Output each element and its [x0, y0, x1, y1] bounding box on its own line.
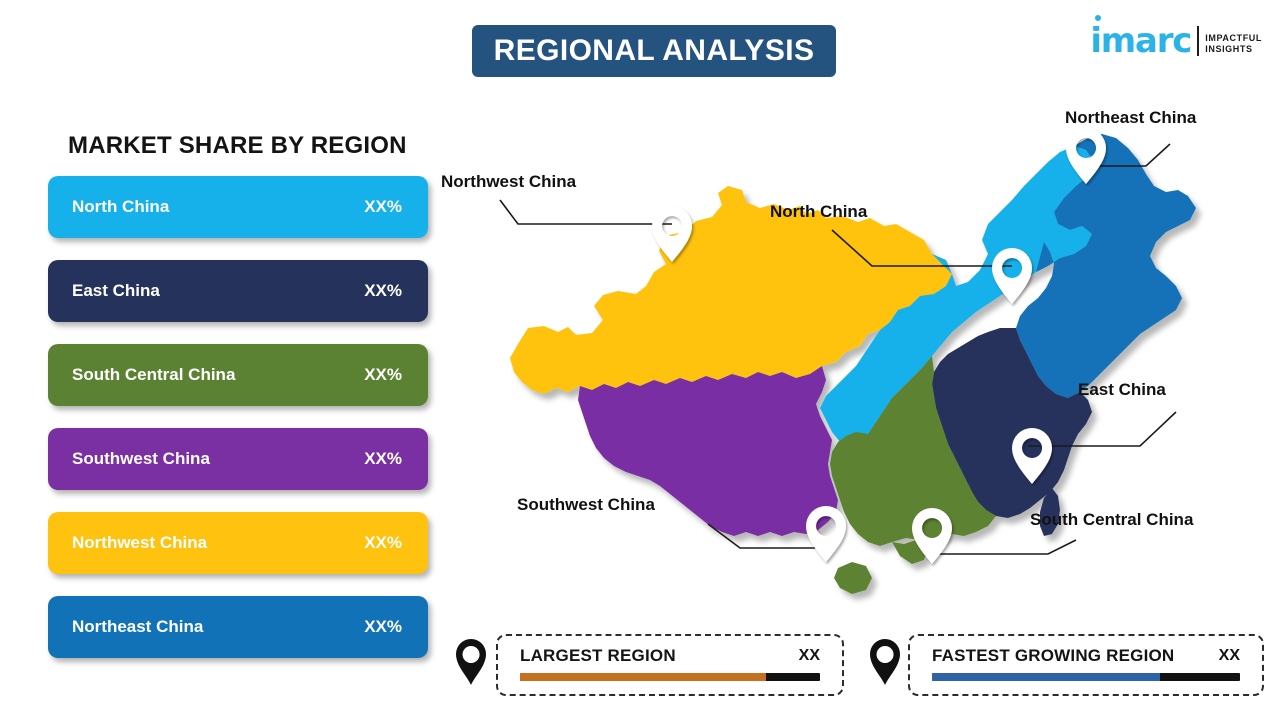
largest-region-title: LARGEST REGION [520, 646, 676, 666]
logo-tagline: IMPACTFUL INSIGHTS [1205, 33, 1262, 59]
legend-item-northeast-china[interactable]: Northeast China XX% [48, 596, 428, 658]
map-label-north-china: North China [770, 202, 867, 222]
map-island-hainan[interactable] [834, 562, 872, 594]
fastest-growing-region-value: XX [1219, 647, 1240, 665]
logo-wordmark: imarc [1090, 24, 1191, 58]
logo-tagline-line2: INSIGHTS [1205, 44, 1262, 55]
map-label-northeast-china: Northeast China [1065, 108, 1196, 128]
legend-item-north-china[interactable]: North China XX% [48, 176, 428, 238]
legend-item-value: XX% [364, 281, 402, 301]
page-title: REGIONAL ANALYSIS [494, 34, 815, 68]
legend-item-south-central-china[interactable]: South Central China XX% [48, 344, 428, 406]
map-label-northwest-china: Northwest China [441, 172, 576, 192]
largest-region-pin-icon [452, 637, 490, 687]
legend-item-value: XX% [364, 533, 402, 553]
map-pin-southwest-icon[interactable] [806, 506, 846, 562]
fastest-growing-region-progress-fill [932, 673, 1160, 681]
largest-region-progress-fill [520, 673, 766, 681]
china-map-svg [440, 90, 1280, 620]
fastest-growing-region-title: FASTEST GROWING REGION [932, 646, 1174, 666]
legend-item-northwest-china[interactable]: Northwest China XX% [48, 512, 428, 574]
market-share-legend: MARKET SHARE BY REGION North China XX% E… [48, 132, 428, 680]
largest-region-value: XX [799, 647, 820, 665]
china-regional-map: Northwest China North China Northeast Ch… [440, 90, 1280, 620]
legend-item-label: East China [72, 281, 160, 301]
legend-item-east-china[interactable]: East China XX% [48, 260, 428, 322]
map-label-east-china: East China [1078, 380, 1166, 400]
leader-line-northwest [500, 200, 672, 224]
page-header-banner: REGIONAL ANALYSIS [472, 25, 836, 77]
leader-line-southcentral [928, 540, 1076, 554]
map-label-southwest-china: Southwest China [517, 495, 655, 515]
legend-item-value: XX% [364, 197, 402, 217]
fastest-growing-region-callout[interactable]: FASTEST GROWING REGION XX [908, 634, 1264, 696]
legend-item-southwest-china[interactable]: Southwest China XX% [48, 428, 428, 490]
logo-tagline-line1: IMPACTFUL [1205, 33, 1262, 44]
legend-item-value: XX% [364, 617, 402, 637]
fastest-growing-region-pin-icon [866, 637, 904, 687]
legend-title: MARKET SHARE BY REGION [68, 132, 428, 160]
largest-region-callout[interactable]: LARGEST REGION XX [496, 634, 844, 696]
legend-item-value: XX% [364, 449, 402, 469]
legend-item-label: North China [72, 197, 169, 217]
legend-item-value: XX% [364, 365, 402, 385]
legend-item-label: Northeast China [72, 617, 203, 637]
imarc-logo: imarc IMPACTFUL INSIGHTS [1090, 14, 1262, 58]
legend-item-label: Northwest China [72, 533, 207, 553]
fastest-growing-region-row: FASTEST GROWING REGION XX [910, 636, 1262, 666]
largest-region-progress-track [520, 673, 820, 681]
map-label-south-central-china: South Central China [1030, 510, 1193, 530]
fastest-growing-region-progress-track [932, 673, 1240, 681]
legend-item-label: South Central China [72, 365, 235, 385]
largest-region-row: LARGEST REGION XX [498, 636, 842, 666]
logo-word: imarc [1090, 24, 1191, 58]
logo-divider [1197, 26, 1199, 56]
legend-item-label: Southwest China [72, 449, 210, 469]
